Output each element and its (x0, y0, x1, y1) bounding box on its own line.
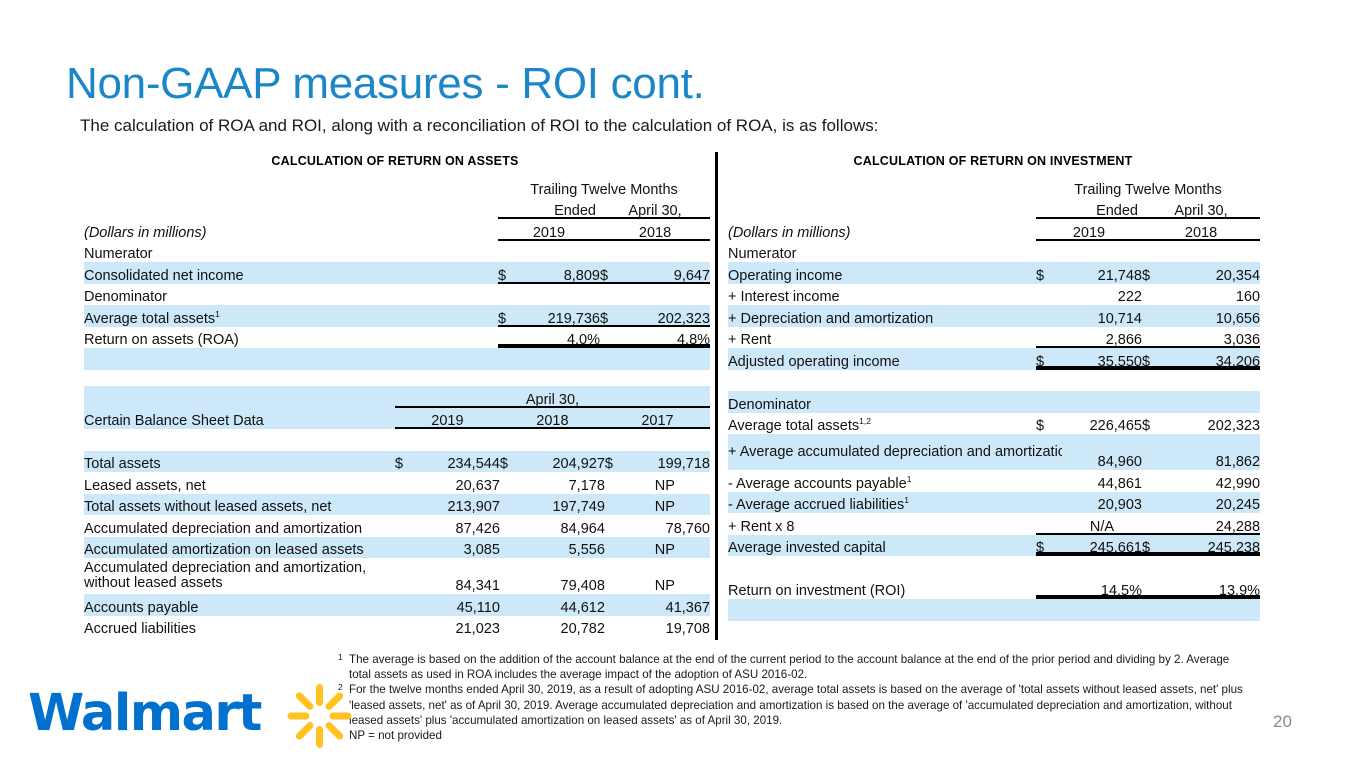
roi-table: Trailing Twelve Months Ended April 30, (… (728, 176, 1260, 621)
bs-row-label: Leased assets, net (84, 472, 395, 494)
page-subtitle: The calculation of ROA and ROI, along wi… (80, 115, 878, 137)
roi-avg-accum-dep-label: + Average accumulated depreciation and a… (728, 434, 1036, 470)
page-title: Non-GAAP measures - ROI cont. (66, 58, 705, 110)
bs-currency-symbol (500, 558, 525, 594)
table-row: Return on assets (ROA) 4.0% 4.8% (84, 327, 710, 349)
roa-table: Trailing Twelve Months Ended April 30, (… (84, 176, 710, 370)
roa-return-on-assets-label: Return on assets (ROA) (84, 327, 498, 349)
bs-spacer (84, 429, 710, 451)
roi-year-2018: 2018 (1142, 219, 1260, 241)
roi-spacer-2 (728, 556, 1260, 578)
roa-header-row-2: Ended April 30, (84, 198, 710, 220)
table-row: Adjusted operating income $ 35,550 $ 34,… (728, 348, 1260, 370)
bs-year-2018: 2018 (500, 408, 605, 430)
bs-currency-symbol (395, 494, 420, 516)
walmart-logo: Walmart (28, 676, 328, 752)
roi-ended: Ended (1036, 198, 1142, 220)
bs-currency-symbol (605, 515, 630, 537)
bs-row-label: Accounts payable (84, 594, 395, 616)
walmart-wordmark: Walmart (28, 684, 261, 743)
bs-row-label: Total assets without leased assets, net (84, 494, 395, 516)
table-row: Accumulated depreciation and amortizatio… (84, 515, 710, 537)
footnote-1-marker: 1 (338, 650, 343, 665)
bs-row-label: Accumulated depreciation and amortizatio… (84, 515, 395, 537)
bs-currency-symbol (500, 537, 525, 559)
bs-cell-value: 199,718 (630, 451, 710, 473)
footnote-2: 2For the twelve months ended April 30, 2… (338, 682, 1243, 728)
table-row: Leased assets, net20,6377,178NP (84, 472, 710, 494)
walmart-spark-icon (285, 682, 353, 750)
table-row: + Interest income 222 160 (728, 284, 1260, 306)
roi-interest-income-label: + Interest income (728, 284, 1036, 306)
table-row: Return on investment (ROI) 14.5% 13.9% (728, 578, 1260, 600)
bs-cell-value: 20,637 (420, 472, 500, 494)
roa-spacer-band (84, 348, 710, 370)
roi-return-on-investment-label: Return on investment (ROI) (728, 578, 1036, 600)
bs-cell-value: 44,612 (525, 594, 605, 616)
bs-cell-value: NP (630, 472, 710, 494)
bs-cell-value: 79,408 (525, 558, 605, 594)
bs-cell-value: NP (630, 558, 710, 594)
bs-cell-value: 19,708 (630, 616, 710, 638)
roi-average-total-assets-label: Average total assets1,2 (728, 413, 1036, 435)
table-row: - Average accounts payable1 44,861 42,99… (728, 470, 1260, 492)
roa-header-row-3: (Dollars in millions) 2019 2018 (84, 219, 710, 241)
bs-currency-symbol (395, 537, 420, 559)
roi-denominator-heading: Denominator (728, 391, 1260, 413)
table-row: Accumulated amortization on leased asset… (84, 537, 710, 559)
bs-cell-value: 197,749 (525, 494, 605, 516)
table-row: + Average accumulated depreciation and a… (728, 434, 1260, 470)
bs-cell-value: 20,782 (525, 616, 605, 638)
bs-cell-value: 21,023 (420, 616, 500, 638)
bs-cell-value: 87,426 (420, 515, 500, 537)
roa-denominator-heading: Denominator (84, 284, 710, 306)
roa-year-2018: 2018 (600, 219, 710, 241)
bs-currency-symbol: $ (605, 451, 630, 473)
table-row: Accumulated depreciation and amortizatio… (84, 558, 710, 594)
table-row: Consolidated net income $ 8,809 $ 9,647 (84, 262, 710, 284)
table-row: + Depreciation and amortization 10,714 1… (728, 305, 1260, 327)
table-row: + Rent 2,866 3,036 (728, 327, 1260, 349)
bs-currency-symbol (395, 472, 420, 494)
bs-header-years: Certain Balance Sheet Data 2019 2018 201… (84, 408, 710, 430)
bs-currency-symbol (395, 616, 420, 638)
roi-avg-accrued-liabilities-label: - Average accrued liabilities1 (728, 492, 1036, 514)
bs-cell-value: 84,964 (525, 515, 605, 537)
bs-header-april: April 30, (84, 386, 710, 408)
roa-trailing-twelve-months: Trailing Twelve Months (498, 176, 710, 198)
footnote-1: 1The average is based on the addition of… (338, 652, 1243, 682)
bs-cell-value: 234,544 (420, 451, 500, 473)
balance-sheet-table: April 30, Certain Balance Sheet Data 201… (84, 386, 710, 637)
bs-currency-symbol (605, 616, 630, 638)
roi-average-invested-capital-label: Average invested capital (728, 535, 1036, 557)
roa-average-total-assets-label: Average total assets1 (84, 305, 498, 327)
bs-currency-symbol (500, 515, 525, 537)
bs-currency-symbol (395, 515, 420, 537)
roi-trailing-twelve-months: Trailing Twelve Months (1036, 176, 1260, 198)
roi-rent-x8-label: + Rent x 8 (728, 513, 1036, 535)
section-heading-roi: CALCULATION OF RETURN ON INVESTMENT (726, 154, 1260, 168)
center-divider (715, 152, 718, 640)
table-row: Operating income $ 21,748 $ 20,354 (728, 262, 1260, 284)
bs-currency-symbol (500, 494, 525, 516)
table-row: Total assets without leased assets, net2… (84, 494, 710, 516)
table-row: + Rent x 8 N/A 24,288 (728, 513, 1260, 535)
bs-cell-value: NP (630, 494, 710, 516)
roa-header-row-1: Trailing Twelve Months (84, 176, 710, 198)
roi-april: April 30, (1142, 198, 1260, 220)
bs-currency-symbol (500, 616, 525, 638)
roi-spacer-1 (728, 370, 1260, 392)
roa-ended: Ended (498, 198, 600, 220)
table-row: Total assets$234,544$204,927$199,718 (84, 451, 710, 473)
table-row: Average total assets1 $ 219,736 $ 202,32… (84, 305, 710, 327)
bs-currency-symbol (605, 558, 630, 594)
section-heading-roa: CALCULATION OF RETURN ON ASSETS (80, 154, 710, 168)
table-row: - Average accrued liabilities1 20,903 20… (728, 492, 1260, 514)
bs-year-2017: 2017 (605, 408, 710, 430)
roa-units-label: (Dollars in millions) (84, 219, 498, 241)
bs-currency-symbol (605, 594, 630, 616)
bs-cell-value: 204,927 (525, 451, 605, 473)
bs-year-2019: 2019 (395, 408, 500, 430)
bs-cell-value: NP (630, 537, 710, 559)
roa-consolidated-net-income-label: Consolidated net income (84, 262, 498, 284)
bs-currency-symbol (500, 594, 525, 616)
roi-header-row-1: Trailing Twelve Months (728, 176, 1260, 198)
roi-rent-label: + Rent (728, 327, 1036, 349)
roi-depreciation-label: + Depreciation and amortization (728, 305, 1036, 327)
bs-cell-value: 78,760 (630, 515, 710, 537)
bs-cell-value: 84,341 (420, 558, 500, 594)
bs-currency-symbol: $ (500, 451, 525, 473)
bs-cell-value: 5,556 (525, 537, 605, 559)
roi-numerator-heading: Numerator (728, 241, 1260, 263)
roi-spacer-band (728, 599, 1260, 621)
roi-header-row-3: (Dollars in millions) 2019 2018 (728, 219, 1260, 241)
bs-cell-value: 7,178 (525, 472, 605, 494)
bs-currency-symbol (605, 537, 630, 559)
bs-row-label: Accrued liabilities (84, 616, 395, 638)
bs-cell-value: 45,110 (420, 594, 500, 616)
bs-currency-symbol (500, 472, 525, 494)
bs-cell-value: 213,907 (420, 494, 500, 516)
roi-year-2019: 2019 (1036, 219, 1142, 241)
roi-adjusted-operating-income-label: Adjusted operating income (728, 348, 1036, 370)
bs-row-label: Accumulated amortization on leased asset… (84, 537, 395, 559)
roa-year-2019: 2019 (498, 219, 600, 241)
bs-currency-symbol (605, 494, 630, 516)
roa-april: April 30, (600, 198, 710, 220)
footnotes: 1The average is based on the addition of… (338, 652, 1243, 743)
table-row: Average total assets1,2 $ 226,465 $ 202,… (728, 413, 1260, 435)
footnote-np: NP = not provided (338, 728, 1243, 743)
bs-currency-symbol (395, 558, 420, 594)
bs-row-label: Accumulated depreciation and amortizatio… (84, 558, 395, 594)
table-row: Average invested capital $ 245,661 $ 245… (728, 535, 1260, 557)
roi-operating-income-label: Operating income (728, 262, 1036, 284)
bs-currency-symbol: $ (395, 451, 420, 473)
table-row: Accrued liabilities21,02320,78219,708 (84, 616, 710, 638)
page-number: 20 (1273, 712, 1292, 732)
roa-numerator-heading: Numerator (84, 241, 710, 263)
bs-cell-value: 41,367 (630, 594, 710, 616)
bs-cell-value: 3,085 (420, 537, 500, 559)
table-row: Accounts payable45,11044,61241,367 (84, 594, 710, 616)
bs-currency-symbol (605, 472, 630, 494)
bs-row-label: Total assets (84, 451, 395, 473)
bs-title: Certain Balance Sheet Data (84, 408, 395, 430)
roi-units-label: (Dollars in millions) (728, 219, 1036, 241)
roi-header-row-2: Ended April 30, (728, 198, 1260, 220)
bs-currency-symbol (395, 594, 420, 616)
roi-avg-accounts-payable-label: - Average accounts payable1 (728, 470, 1036, 492)
